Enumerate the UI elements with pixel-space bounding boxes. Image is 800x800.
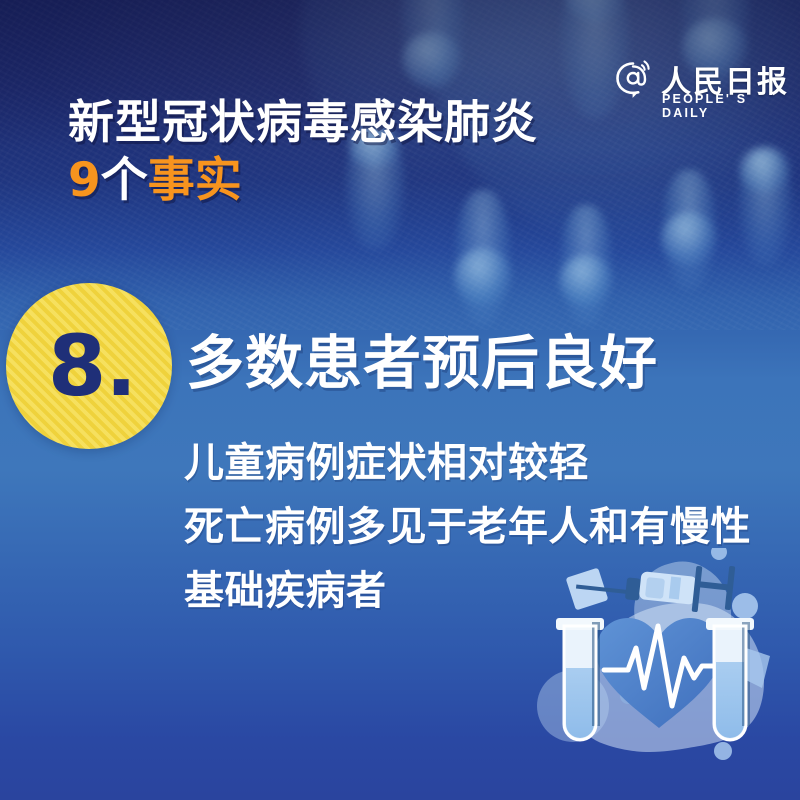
at-speech-bubble-icon [613, 59, 655, 101]
decorative-dot [714, 742, 732, 760]
decorative-dot [732, 593, 758, 619]
publisher-logo: 人民日报 PEOPLE' S DAILY [613, 57, 793, 115]
poster-canvas: 人民日报 PEOPLE' S DAILY 新型冠状病毒感染肺炎 9个事实 8. … [0, 0, 800, 800]
body-line: 儿童病例症状相对较轻 [184, 431, 794, 495]
test-tube-right-icon [706, 618, 770, 740]
medical-illustration [518, 548, 800, 800]
subtitle-count: 9 [68, 153, 101, 208]
subtitle-measure-word: 个 [101, 153, 148, 208]
item-number-badge: 8. [6, 283, 172, 449]
item-number-text: 8. [6, 283, 172, 449]
test-tube-left-icon [556, 618, 604, 740]
poster-title: 新型冠状病毒感染肺炎 [68, 94, 538, 150]
logo-name-en: PEOPLE' S DAILY [662, 92, 793, 120]
item-headline: 多数患者预后良好 [186, 326, 658, 400]
decorative-dot [711, 548, 727, 560]
subtitle-noun: 事实 [148, 153, 242, 208]
poster-subtitle: 9个事实 [68, 152, 242, 210]
